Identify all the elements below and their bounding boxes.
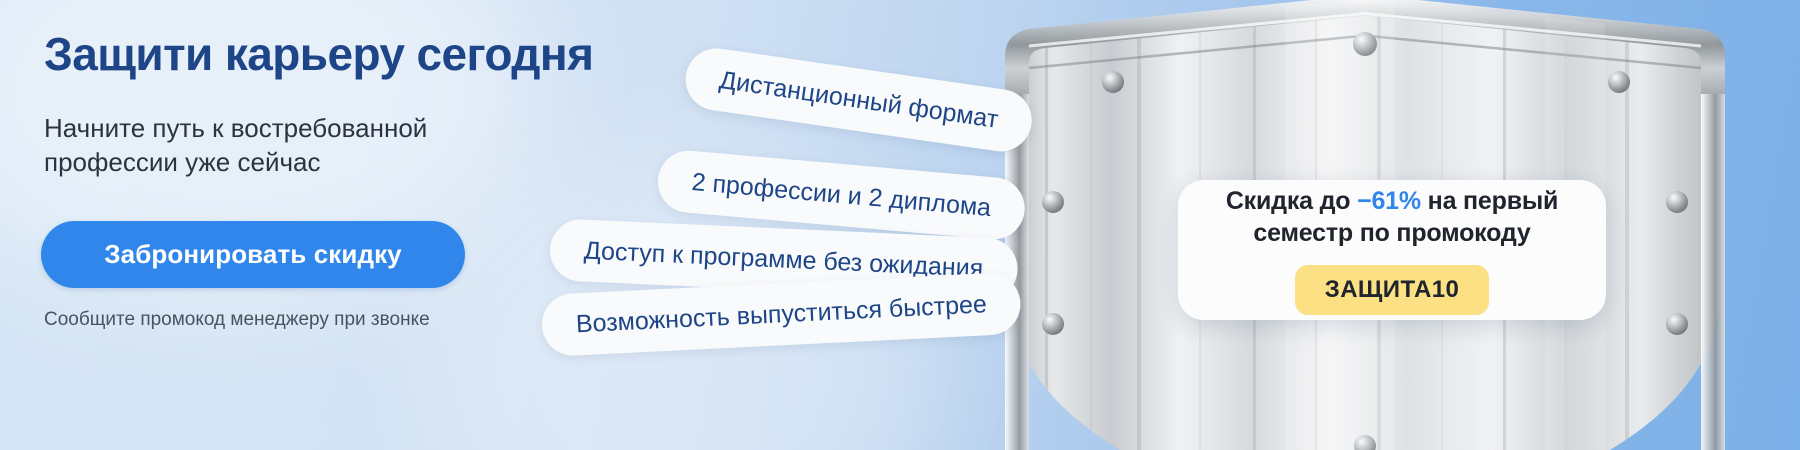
bubble-label: Возможность выпуститься быстрее — [575, 290, 987, 339]
subheadline: Начните путь к востребованной профессии … — [44, 112, 564, 180]
promo-banner: Защити карьеру сегодня Начните путь к во… — [0, 0, 1800, 450]
promo-instruction-note: Сообщите промокод менеджеру при звонке — [44, 309, 430, 331]
bubble-label: 2 профессии и 2 диплома — [691, 168, 993, 223]
promo-discount-card: Скидка до −61% на первый семестр по пром… — [1178, 180, 1606, 320]
promo-line1-suffix: на первый — [1421, 187, 1558, 215]
bubble-label: Дистанционный формат — [718, 65, 1001, 134]
discount-value: −61% — [1357, 187, 1421, 215]
promo-code-badge[interactable]: ЗАЩИТА10 — [1295, 265, 1489, 315]
page-title: Защити карьеру сегодня — [44, 30, 684, 78]
left-content-column: Защити карьеру сегодня Начните путь к во… — [44, 30, 684, 180]
promo-line1-prefix: Скидка до — [1226, 187, 1357, 215]
feature-bubble-graduate-faster: Возможность выпуститься быстрее — [540, 272, 1022, 357]
promo-description: Скидка до −61% на первый семестр по пром… — [1226, 185, 1558, 249]
feature-bubble-distance-format: Дистанционный формат — [682, 44, 1037, 155]
book-discount-button[interactable]: Забронировать скидку — [41, 221, 465, 288]
promo-line2: семестр по промокоду — [1253, 219, 1530, 247]
